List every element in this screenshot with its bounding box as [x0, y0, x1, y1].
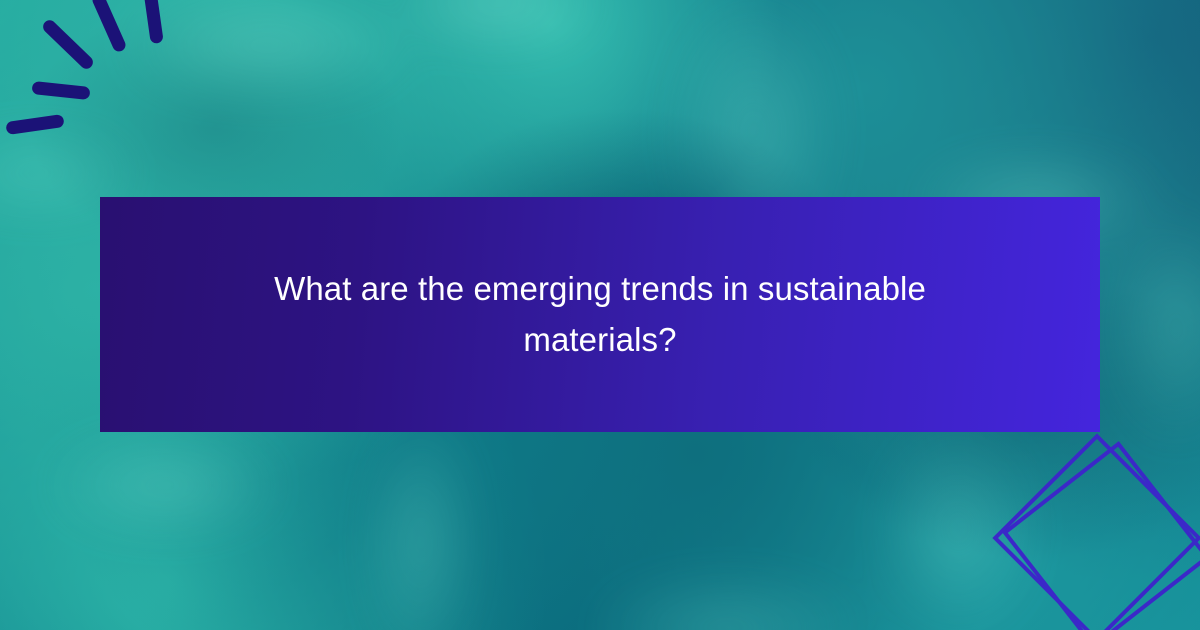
social-card: What are the emerging trends in sustaina… — [0, 0, 1200, 630]
question-banner: What are the emerging trends in sustaina… — [100, 197, 1100, 432]
question-text: What are the emerging trends in sustaina… — [220, 264, 980, 364]
rotated-square-2 — [1005, 444, 1200, 630]
rotated-square-1 — [995, 436, 1199, 630]
rotated-squares-decoration — [970, 410, 1200, 630]
